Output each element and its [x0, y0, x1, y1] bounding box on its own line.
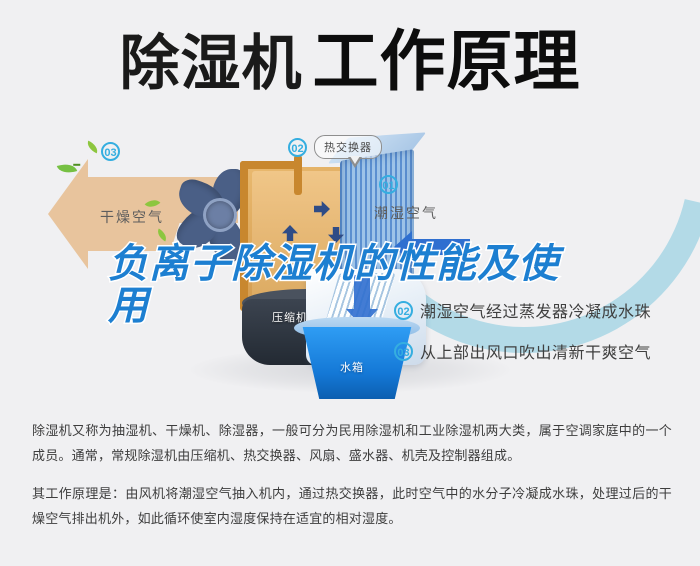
- page-title: 除湿机工作原理: [0, 28, 700, 94]
- humid-air-label: 潮湿空气: [374, 203, 438, 223]
- legend-badge: 03: [394, 342, 413, 361]
- legend-label: 从上部出风口吹出清新干爽空气: [420, 339, 651, 363]
- watermark-line-2: 用: [108, 284, 149, 328]
- paragraph-2: 其工作原理是：由风机将潮湿空气抽入机内，通过热交换器，此时空气中的水分子冷凝成水…: [32, 481, 672, 532]
- badge-03: 03: [101, 142, 120, 161]
- page-title-part1: 除湿机: [120, 30, 303, 97]
- humid-air-badge: 01: [379, 175, 398, 194]
- badge-02: 02: [288, 138, 307, 157]
- paragraph-1: 除湿机又称为抽湿机、干燥机、除湿器，一般可分为民用除湿机和工业除湿机两大类，属于…: [32, 418, 672, 469]
- watermark-overlay: 负离子除湿机的性能及使 用: [108, 243, 648, 328]
- water-tank-label: 水箱: [340, 359, 364, 375]
- article-body: 除湿机又称为抽湿机、干燥机、除湿器，一般可分为民用除湿机和工业除湿机两大类，属于…: [32, 418, 672, 543]
- callout-tail-icon: [348, 157, 362, 168]
- watermark-line-1: 负离子除湿机的性能及使: [108, 242, 559, 286]
- heat-exchanger-label: 热交换器: [314, 135, 382, 159]
- legend-item: 03 从上部出风口吹出清新干爽空气: [394, 339, 694, 363]
- leaf-icon: [85, 141, 100, 154]
- badge-01: 01: [379, 175, 398, 194]
- dry-air-badge: 03: [101, 142, 120, 161]
- dry-air-label: 干燥空气: [100, 207, 164, 227]
- infographic-page: 除湿机工作原理 干燥空气 03: [0, 0, 700, 566]
- page-title-part2: 工作原理: [313, 24, 581, 98]
